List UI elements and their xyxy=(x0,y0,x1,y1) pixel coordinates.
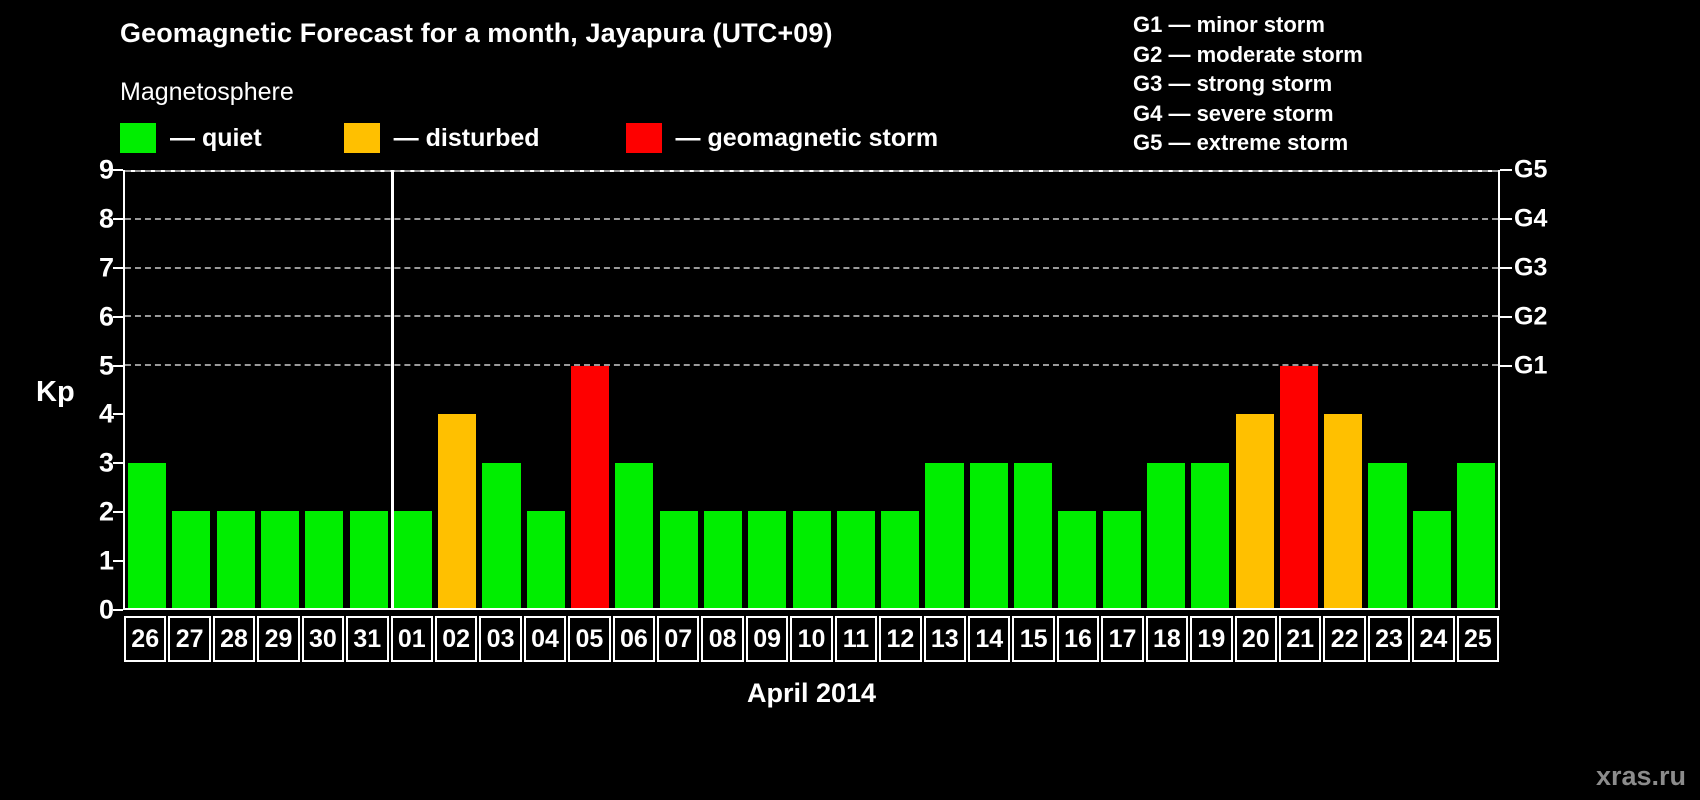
bar-day-10[interactable] xyxy=(793,511,831,608)
g-tick-mark-g3 xyxy=(1500,267,1512,269)
bar-day-31[interactable] xyxy=(350,511,388,608)
g-tick-mark-g1 xyxy=(1500,365,1512,367)
day-label-03: 03 xyxy=(479,616,521,662)
bar-day-26[interactable] xyxy=(128,463,166,608)
day-label-08: 08 xyxy=(701,616,743,662)
bar-slot xyxy=(1232,172,1276,608)
day-label-29: 29 xyxy=(257,616,299,662)
watermark: xras.ru xyxy=(1596,761,1686,792)
day-label-16: 16 xyxy=(1057,616,1099,662)
g-axis-label-g2: G2 xyxy=(1514,304,1547,329)
bar-day-11[interactable] xyxy=(837,511,875,608)
y-tick-mark-0 xyxy=(113,609,123,611)
legend-label-storm: — geomagnetic storm xyxy=(676,124,939,153)
bar-slot xyxy=(169,172,213,608)
y-axis-labels: 0123456789 xyxy=(70,170,114,610)
y-tick-label-3: 3 xyxy=(99,450,114,477)
g-axis-label-g4: G4 xyxy=(1514,206,1547,231)
bar-day-14[interactable] xyxy=(970,463,1008,608)
g-scale-g1: G1 — minor storm xyxy=(1133,10,1363,40)
day-label-26: 26 xyxy=(124,616,166,662)
bar-day-29[interactable] xyxy=(261,511,299,608)
bar-day-05[interactable] xyxy=(571,366,609,608)
legend-item-quiet: — quiet xyxy=(120,123,262,153)
legend-swatch-disturbed xyxy=(344,123,380,153)
magnetosphere-label: Magnetosphere xyxy=(120,78,294,107)
y-axis-title: Kp xyxy=(36,376,75,409)
y-tick-mark-9 xyxy=(113,169,123,171)
bar-day-13[interactable] xyxy=(925,463,963,608)
g-tick-mark-g2 xyxy=(1500,316,1512,318)
day-label-06: 06 xyxy=(613,616,655,662)
day-label-18: 18 xyxy=(1146,616,1188,662)
legend: — quiet — disturbed — geomagnetic storm xyxy=(120,122,938,154)
x-axis-day-labels: 2627282930310102030405060708091011121314… xyxy=(123,616,1500,662)
bar-day-21[interactable] xyxy=(1280,366,1318,608)
y-tick-mark-5 xyxy=(113,365,123,367)
bar-slot xyxy=(435,172,479,608)
g-axis-labels: G1G2G3G4G5 xyxy=(1514,170,1584,610)
day-label-23: 23 xyxy=(1368,616,1410,662)
legend-label-disturbed: — disturbed xyxy=(394,124,540,153)
bar-day-20[interactable] xyxy=(1236,414,1274,608)
y-tick-mark-3 xyxy=(113,462,123,464)
bar-day-12[interactable] xyxy=(881,511,919,608)
g-tick-mark-g5 xyxy=(1500,169,1512,171)
legend-item-disturbed: — disturbed xyxy=(344,123,540,153)
bar-day-01[interactable] xyxy=(394,511,432,608)
g-tick-mark-g4 xyxy=(1500,218,1512,220)
day-label-02: 02 xyxy=(435,616,477,662)
bar-slot xyxy=(967,172,1011,608)
bar-slot xyxy=(1100,172,1144,608)
bar-slot xyxy=(1454,172,1498,608)
chart-plot-area xyxy=(123,170,1500,610)
bar-slot xyxy=(1188,172,1232,608)
bar-slot xyxy=(302,172,346,608)
bar-slot xyxy=(214,172,258,608)
bar-slot xyxy=(834,172,878,608)
bar-day-27[interactable] xyxy=(172,511,210,608)
bar-day-19[interactable] xyxy=(1191,463,1229,608)
bar-day-17[interactable] xyxy=(1103,511,1141,608)
bar-slot xyxy=(125,172,169,608)
y-tick-label-0: 0 xyxy=(99,597,114,624)
day-label-31: 31 xyxy=(346,616,388,662)
day-label-04: 04 xyxy=(524,616,566,662)
day-label-11: 11 xyxy=(835,616,877,662)
bar-day-30[interactable] xyxy=(305,511,343,608)
bar-day-07[interactable] xyxy=(660,511,698,608)
y-tick-label-7: 7 xyxy=(99,254,114,281)
day-label-05: 05 xyxy=(568,616,610,662)
day-label-17: 17 xyxy=(1101,616,1143,662)
bar-slot xyxy=(1321,172,1365,608)
day-label-22: 22 xyxy=(1323,616,1365,662)
day-label-30: 30 xyxy=(302,616,344,662)
day-label-21: 21 xyxy=(1279,616,1321,662)
bar-slot xyxy=(346,172,390,608)
day-label-24: 24 xyxy=(1412,616,1454,662)
bar-day-15[interactable] xyxy=(1014,463,1052,608)
month-separator-line xyxy=(391,172,394,608)
day-label-25: 25 xyxy=(1457,616,1499,662)
bar-slot xyxy=(1144,172,1188,608)
bar-day-08[interactable] xyxy=(704,511,742,608)
bar-day-28[interactable] xyxy=(217,511,255,608)
bar-slot xyxy=(789,172,833,608)
bar-day-16[interactable] xyxy=(1058,511,1096,608)
x-axis-title: April 2014 xyxy=(123,678,1500,709)
bar-day-18[interactable] xyxy=(1147,463,1185,608)
bar-slot xyxy=(1055,172,1099,608)
bar-slot xyxy=(258,172,302,608)
y-tick-mark-1 xyxy=(113,560,123,562)
day-label-27: 27 xyxy=(168,616,210,662)
day-label-09: 09 xyxy=(746,616,788,662)
y-tick-mark-6 xyxy=(113,316,123,318)
bar-slot xyxy=(524,172,568,608)
g-scale-g4: G4 — severe storm xyxy=(1133,99,1363,129)
day-label-19: 19 xyxy=(1190,616,1232,662)
bar-day-23[interactable] xyxy=(1368,463,1406,608)
y-tick-label-6: 6 xyxy=(99,303,114,330)
bar-day-06[interactable] xyxy=(615,463,653,608)
bar-slot xyxy=(657,172,701,608)
bar-slot xyxy=(1011,172,1055,608)
bar-day-02[interactable] xyxy=(438,414,476,608)
bar-day-22[interactable] xyxy=(1324,414,1362,608)
y-tick-mark-4 xyxy=(113,413,123,415)
y-tick-label-5: 5 xyxy=(99,352,114,379)
y-tick-mark-8 xyxy=(113,218,123,220)
bar-day-09[interactable] xyxy=(748,511,786,608)
bar-slot xyxy=(922,172,966,608)
day-label-28: 28 xyxy=(213,616,255,662)
bar-slot xyxy=(568,172,612,608)
y-tick-label-2: 2 xyxy=(99,499,114,526)
g-axis-label-g3: G3 xyxy=(1514,255,1547,280)
g-scale-g5: G5 — extreme storm xyxy=(1133,128,1363,158)
legend-swatch-storm xyxy=(626,123,662,153)
y-tick-label-8: 8 xyxy=(99,205,114,232)
g-scale-legend: G1 — minor storm G2 — moderate storm G3 … xyxy=(1133,10,1363,158)
bar-slot xyxy=(391,172,435,608)
g-axis-label-g5: G5 xyxy=(1514,158,1547,183)
bar-slot xyxy=(701,172,745,608)
bar-series xyxy=(125,172,1498,608)
bar-slot xyxy=(1365,172,1409,608)
bar-day-04[interactable] xyxy=(527,511,565,608)
day-label-12: 12 xyxy=(879,616,921,662)
page-title: Geomagnetic Forecast for a month, Jayapu… xyxy=(120,18,833,49)
y-tick-label-9: 9 xyxy=(99,157,114,184)
bar-slot xyxy=(1410,172,1454,608)
day-label-01: 01 xyxy=(391,616,433,662)
y-tick-mark-2 xyxy=(113,511,123,513)
bar-slot xyxy=(878,172,922,608)
day-label-07: 07 xyxy=(657,616,699,662)
day-label-15: 15 xyxy=(1012,616,1054,662)
g-axis-label-g1: G1 xyxy=(1514,353,1547,378)
bar-day-24[interactable] xyxy=(1413,511,1451,608)
legend-item-storm: — geomagnetic storm xyxy=(626,123,939,153)
day-label-13: 13 xyxy=(924,616,966,662)
legend-label-quiet: — quiet xyxy=(170,124,262,153)
bar-slot xyxy=(479,172,523,608)
day-label-20: 20 xyxy=(1235,616,1277,662)
y-tick-label-4: 4 xyxy=(99,401,114,428)
bar-slot xyxy=(612,172,656,608)
y-tick-mark-7 xyxy=(113,267,123,269)
legend-swatch-quiet xyxy=(120,123,156,153)
bar-day-25[interactable] xyxy=(1457,463,1495,608)
bar-slot xyxy=(1277,172,1321,608)
day-label-14: 14 xyxy=(968,616,1010,662)
day-label-10: 10 xyxy=(790,616,832,662)
y-tick-label-1: 1 xyxy=(99,548,114,575)
g-scale-g2: G2 — moderate storm xyxy=(1133,40,1363,70)
g-scale-g3: G3 — strong storm xyxy=(1133,69,1363,99)
bar-day-03[interactable] xyxy=(482,463,520,608)
bar-slot xyxy=(745,172,789,608)
